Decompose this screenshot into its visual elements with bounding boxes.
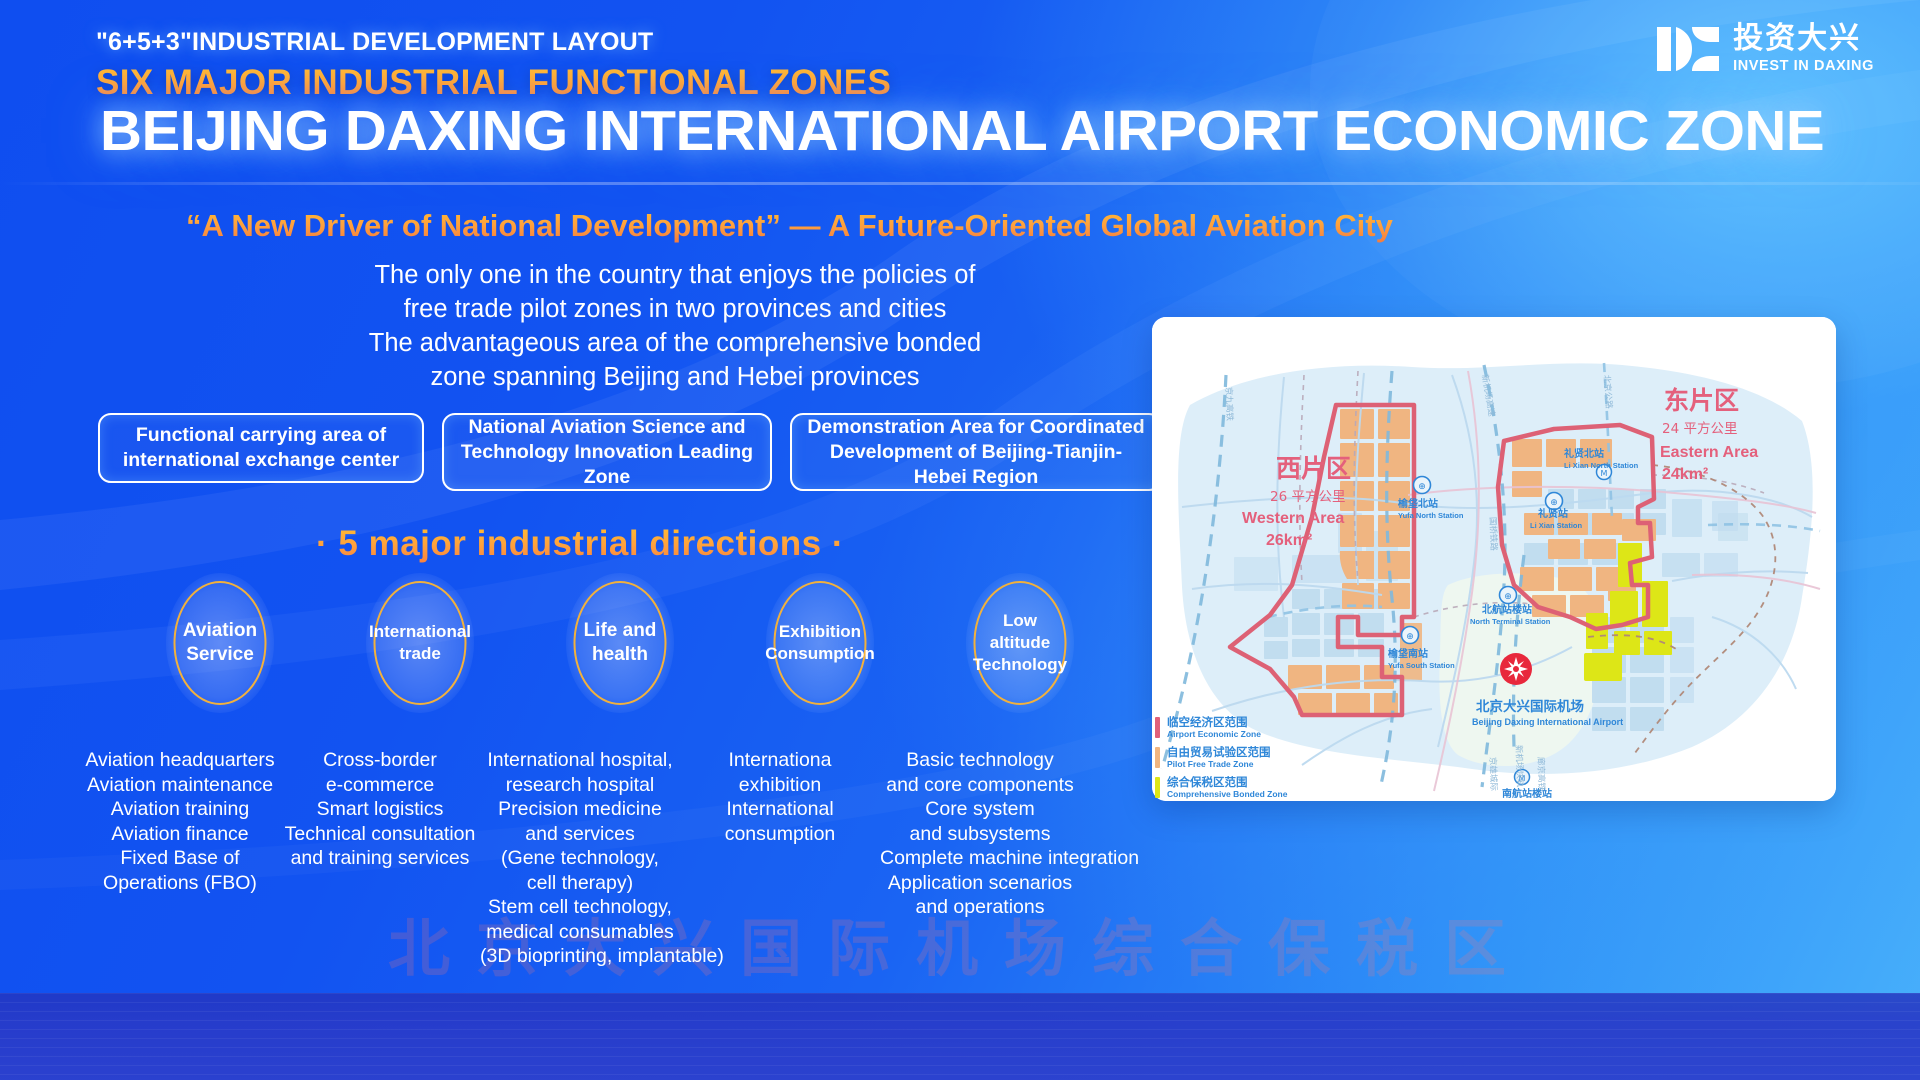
svg-text:京九高铁: 京九高铁	[1223, 387, 1235, 422]
list-item: (3D bioprinting, implantable)	[480, 944, 680, 969]
header-kicker: "6+5+3"INDUSTRIAL DEVELOPMENT LAYOUT	[96, 28, 653, 57]
intro-line: zone spanning Beijing and Hebei province…	[210, 360, 1140, 394]
header-subkicker: SIX MAJOR INDUSTRIAL FUNCTIONAL ZONES	[96, 63, 891, 103]
map-legend: 临空经济区范围 Airport Economic Zone 自由贸易试验区范围 …	[1155, 716, 1325, 806]
legend-swatch	[1155, 717, 1160, 738]
legend-label-cn: 临空经济区范围	[1167, 716, 1261, 728]
circle-label-wrap: Life and health	[574, 581, 667, 705]
circle-label-wrap: Exhibition Consumption	[774, 581, 867, 705]
svg-text:Beijing Daxing International A: Beijing Daxing International Airport	[1472, 717, 1623, 727]
list-item: Aviation training	[80, 797, 280, 822]
svg-text:26 平方公里: 26 平方公里	[1270, 489, 1345, 505]
legend-swatch	[1155, 777, 1160, 798]
list-item: e-commerce	[280, 773, 480, 798]
svg-text:礼贤北站: 礼贤北站	[1564, 447, 1604, 460]
list-item: and services	[480, 822, 680, 847]
direction-circle-aviation-service[interactable]: Aviation Service	[120, 580, 320, 705]
list-item: exhibition	[680, 773, 880, 798]
detail-list-international-trade: Cross-border e-commerce Smart logistics …	[280, 748, 480, 969]
legend-label-en: Comprehensive Bonded Zone	[1167, 790, 1287, 799]
svg-text:M: M	[1601, 469, 1608, 478]
direction-circle-exhibition-consumption[interactable]: Exhibition Consumption	[720, 580, 920, 705]
pill-aviation-science-zone[interactable]: National Aviation Science and Technology…	[442, 413, 772, 491]
svg-text:Li Xian Station: Li Xian Station	[1530, 521, 1583, 530]
list-item: and operations	[880, 895, 1080, 920]
circle-label-wrap: International trade	[374, 581, 467, 705]
legend-swatch	[1155, 747, 1160, 768]
logo-label-cn: 投资大兴	[1733, 24, 1874, 54]
svg-text:⊕: ⊕	[1550, 498, 1558, 508]
list-item: Complete machine integration	[880, 846, 1080, 871]
legend-label-cn: 自由贸易试验区范围	[1167, 746, 1271, 758]
detail-list-life-and-health: International hospital, research hospita…	[480, 748, 680, 969]
list-item: Smart logistics	[280, 797, 480, 822]
legend-label-en: Airport Economic Zone	[1167, 730, 1261, 739]
list-item: Basic technology	[880, 748, 1080, 773]
pill-demonstration-area[interactable]: Demonstration Area for Coordinated Devel…	[790, 413, 1162, 491]
list-item: Cross-border	[280, 748, 480, 773]
list-item: Fixed Base of	[80, 846, 280, 871]
legend-item-comprehensive-bonded-zone: 综合保税区范围 Comprehensive Bonded Zone	[1155, 776, 1325, 799]
svg-text:京雄城际: 京雄城际	[1487, 757, 1499, 792]
list-item: Internationa	[680, 748, 880, 773]
page-title: BEIJING DAXING INTERNATIONAL AIRPORT ECO…	[100, 98, 1824, 164]
svg-text:西片区: 西片区	[1276, 454, 1351, 483]
list-item: Aviation maintenance	[80, 773, 280, 798]
svg-text:新机场快轨: 新机场快轨	[1513, 745, 1525, 788]
svg-text:东片区: 东片区	[1664, 386, 1739, 415]
svg-text:榆垡北站: 榆垡北站	[1398, 497, 1438, 510]
direction-circle-low-altitude-technology[interactable]: Low altitude Technology	[920, 580, 1120, 705]
svg-text:Eastern Area: Eastern Area	[1660, 444, 1758, 461]
legend-label-cn: 综合保税区范围	[1167, 776, 1287, 788]
svg-text:廊京高铁: 廊京高铁	[1535, 757, 1547, 792]
list-item: Stem cell technology,	[480, 895, 680, 920]
list-item: and core components	[880, 773, 1080, 798]
circle-label-wrap: Low altitude Technology	[974, 581, 1067, 705]
list-item: research hospital	[480, 773, 680, 798]
list-item: and training services	[280, 846, 480, 871]
svg-text:Yufa North Station: Yufa North Station	[1398, 511, 1464, 520]
circle-label: Low altitude Technology	[973, 610, 1067, 676]
directions-heading: · 5 major industrial directions ·	[0, 524, 1160, 564]
invest-in-daxing-logo-icon	[1657, 27, 1719, 71]
legend-item-airport-economic-zone: 临空经济区范围 Airport Economic Zone	[1155, 716, 1325, 739]
svg-text:North Terminal Station: North Terminal Station	[1470, 617, 1551, 626]
detail-list-aviation-service: Aviation headquarters Aviation maintenan…	[80, 748, 280, 969]
svg-text:国桥铁路: 国桥铁路	[1487, 517, 1499, 552]
circle-label: Aviation Service	[176, 619, 265, 667]
bottom-band	[0, 993, 1920, 1080]
svg-text:24km²: 24km²	[1662, 466, 1708, 483]
legend-item-pilot-free-trade-zone: 自由贸易试验区范围 Pilot Free Trade Zone	[1155, 746, 1325, 769]
list-item: consumption	[680, 822, 880, 847]
list-item: (Gene technology,	[480, 846, 680, 871]
list-item: Technical consultation	[280, 822, 480, 847]
svg-text:北京大兴国际机场: 北京大兴国际机场	[1476, 698, 1584, 715]
airport-marker-icon	[1500, 653, 1532, 685]
list-item: Precision medicine	[480, 797, 680, 822]
intro-paragraph: The only one in the country that enjoys …	[210, 258, 1140, 394]
svg-text:Li Xian North Station: Li Xian North Station	[1564, 461, 1639, 470]
list-item: medical consumables	[480, 920, 680, 945]
svg-text:Western Area: Western Area	[1242, 510, 1344, 527]
svg-text:榆垡南站: 榆垡南站	[1388, 647, 1428, 660]
logo-label-en: INVEST IN DAXING	[1733, 59, 1874, 74]
detail-list-low-altitude-technology: Basic technology and core components Cor…	[880, 748, 1080, 969]
svg-text:北航站楼站: 北航站楼站	[1482, 603, 1532, 616]
list-item: Operations (FBO)	[80, 871, 280, 896]
svg-text:⊕: ⊕	[1504, 592, 1512, 602]
direction-circle-life-and-health[interactable]: Life and health	[520, 580, 720, 705]
list-item: cell therapy)	[480, 871, 680, 896]
pill-functional-carrying-area[interactable]: Functional carrying area of internationa…	[98, 413, 424, 483]
intro-line: The only one in the country that enjoys …	[210, 258, 1140, 292]
svg-text:26km²: 26km²	[1266, 532, 1312, 549]
directions-circle-row: Aviation Service International trade Lif…	[120, 580, 1120, 705]
direction-circle-international-trade[interactable]: International trade	[320, 580, 520, 705]
list-item: Aviation finance	[80, 822, 280, 847]
list-item: International	[680, 797, 880, 822]
circle-label: Life and health	[576, 619, 665, 667]
directions-detail-lists: Aviation headquarters Aviation maintenan…	[80, 748, 1080, 969]
svg-text:⊕: ⊕	[1406, 632, 1414, 642]
positioning-pill-row: Functional carrying area of internationa…	[98, 413, 1162, 491]
legend-label-en: Pilot Free Trade Zone	[1167, 760, 1271, 769]
svg-text:礼贤站: 礼贤站	[1538, 507, 1568, 520]
header-divider-line	[0, 182, 1920, 185]
circle-label: International trade	[369, 621, 471, 665]
list-item: Core system	[880, 797, 1080, 822]
list-item: International hospital,	[480, 748, 680, 773]
intro-line: free trade pilot zones in two provinces …	[210, 292, 1140, 326]
brand-logo[interactable]: 投资大兴 INVEST IN DAXING	[1657, 24, 1874, 74]
list-item: Application scenarios	[880, 871, 1080, 896]
circle-label: Exhibition Consumption	[765, 621, 875, 665]
intro-line: The advantageous area of the comprehensi…	[210, 326, 1140, 360]
svg-text:⊕: ⊕	[1418, 482, 1426, 492]
detail-list-exhibition-consumption: Internationa exhibition International co…	[680, 748, 880, 969]
list-item: Aviation headquarters	[80, 748, 280, 773]
svg-text:Yufa South Station: Yufa South Station	[1388, 661, 1455, 670]
svg-text:24 平方公里: 24 平方公里	[1662, 421, 1737, 437]
circle-label-wrap: Aviation Service	[174, 581, 267, 705]
tagline: “A New Driver of National Development” —…	[186, 208, 1746, 244]
list-item: and subsystems	[880, 822, 1080, 847]
